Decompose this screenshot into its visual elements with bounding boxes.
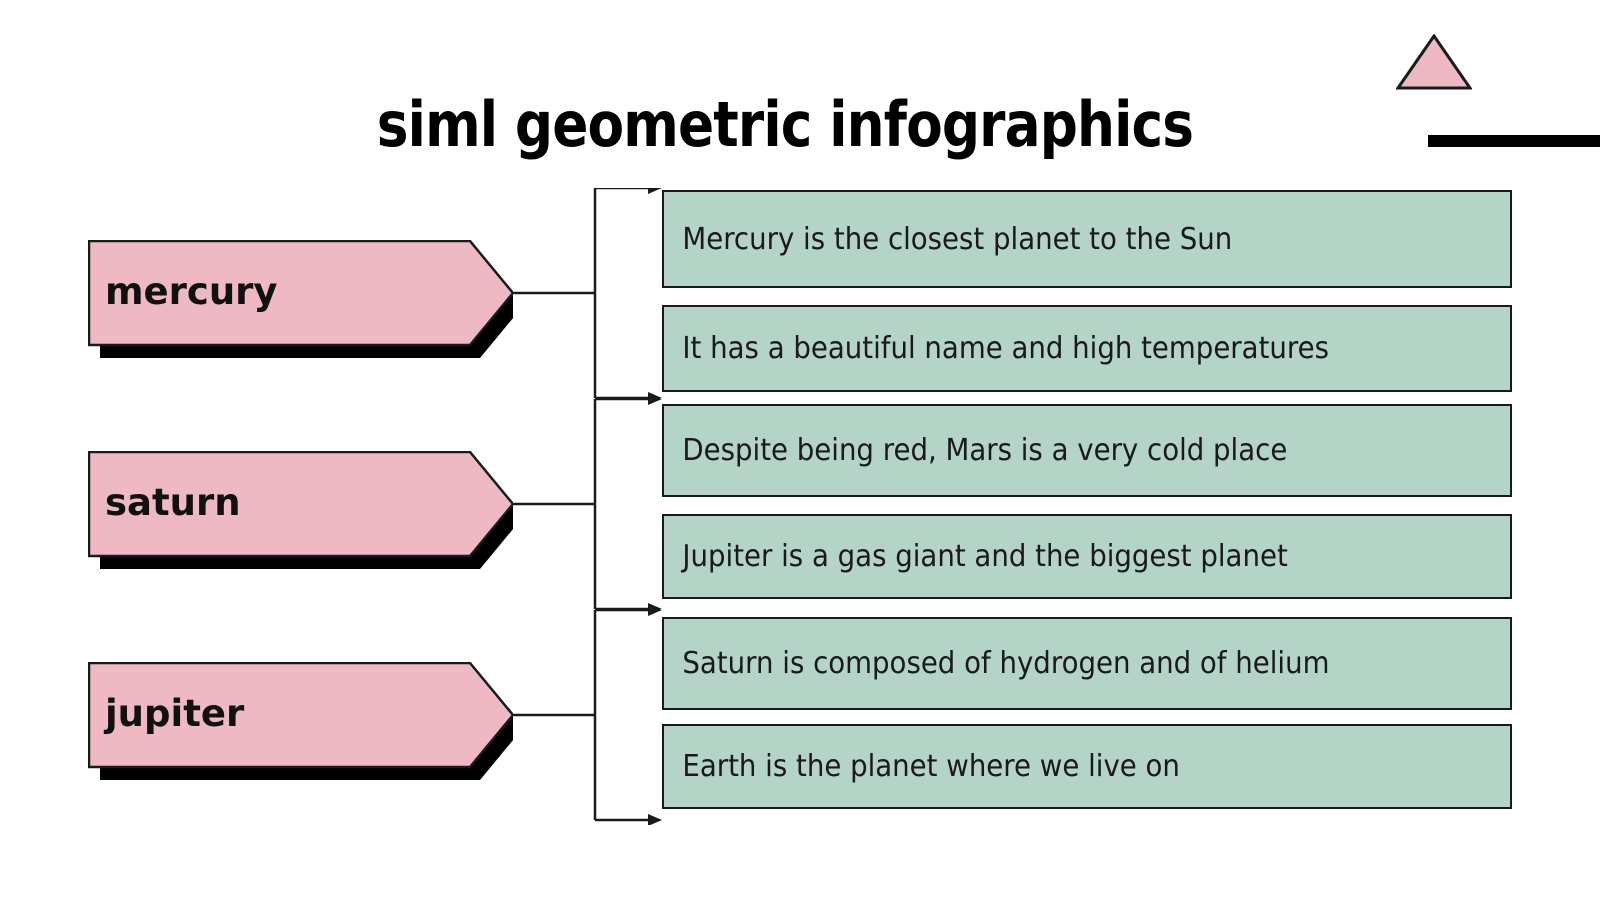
category-label-2[interactable]: jupiter [88, 662, 513, 768]
connector-1 [505, 399, 675, 614]
category-label-text-0: mercury [105, 270, 278, 313]
fact-box-0-0[interactable]: Mercury is the closest planet to the Sun [662, 190, 1512, 288]
fact-text-2-1: Earth is the planet where we live on [664, 749, 1180, 784]
connector-0 [505, 188, 675, 403]
black-bar-decoration [1428, 135, 1600, 147]
category-label-1[interactable]: saturn [88, 451, 513, 557]
page-title: siml geometric infographics [110, 88, 1460, 161]
fact-text-0-1: It has a beautiful name and high tempera… [664, 331, 1329, 366]
connector-2 [505, 610, 675, 825]
fact-text-1-1: Jupiter is a gas giant and the biggest p… [664, 539, 1288, 574]
fact-text-2-0: Saturn is composed of hydrogen and of he… [664, 646, 1329, 681]
fact-box-1-0[interactable]: Despite being red, Mars is a very cold p… [662, 404, 1512, 497]
fact-box-1-1[interactable]: Jupiter is a gas giant and the biggest p… [662, 514, 1512, 599]
category-label-text-1: saturn [105, 481, 241, 524]
fact-text-1-0: Despite being red, Mars is a very cold p… [664, 433, 1287, 468]
fact-text-0-0: Mercury is the closest planet to the Sun [664, 222, 1232, 257]
category-label-0[interactable]: mercury [88, 240, 513, 346]
fact-box-2-0[interactable]: Saturn is composed of hydrogen and of he… [662, 617, 1512, 710]
category-label-text-2: jupiter [105, 692, 244, 735]
infographic-canvas: siml geometric infographics mercury [0, 0, 1600, 900]
fact-box-0-1[interactable]: It has a beautiful name and high tempera… [662, 305, 1512, 392]
fact-box-2-1[interactable]: Earth is the planet where we live on [662, 724, 1512, 809]
pink-triangle-icon [1396, 34, 1472, 90]
